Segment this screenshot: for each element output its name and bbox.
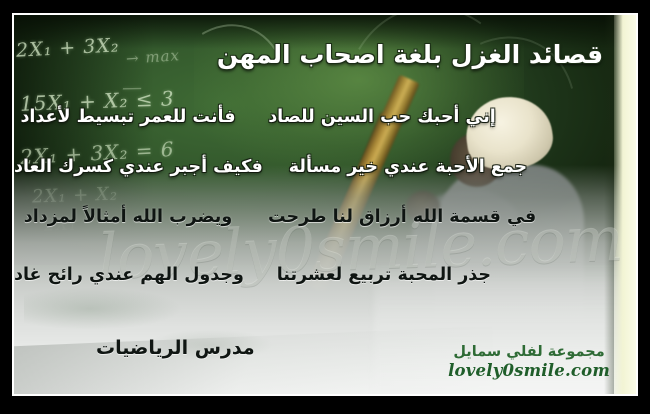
- verse-hemistich-a: جمع الأحبة عندي خير مسألة: [289, 157, 527, 177]
- verse-line: إني أحبك حب السين للصاد فأنت للعمر تبسيط…: [14, 107, 614, 157]
- verse-hemistich-b: ويضرب الله أمثالاً لمزداد: [14, 207, 242, 227]
- poster-image: 2X₁ + 3X₂ → max — 15X₁ + X₂ ≤ 3 2X₁ + 3X…: [0, 0, 650, 414]
- verse-hemistich-b: فكيف أجبر عندي كسرك العاد: [14, 157, 263, 177]
- verse-line: جمع الأحبة عندي خير مسألة فكيف أجبر عندي…: [14, 157, 614, 207]
- verse-hemistich-b: فأنت للعمر تبسيط لأعداد: [14, 107, 242, 127]
- author-signature: مدرس الرياضيات: [96, 337, 255, 359]
- verse-hemistich-a: جذر المحبة تربيع لعشرتنا: [270, 265, 498, 285]
- verse-hemistich-a: إني أحبك حب السين للصاد: [268, 107, 496, 127]
- page-title: قصائد الغزل بلغة اصحاب المهن: [200, 39, 620, 70]
- artwork-canvas: 2X₁ + 3X₂ → max — 15X₁ + X₂ ≤ 3 2X₁ + 3X…: [14, 15, 636, 394]
- verse-line: في قسمة الله أرزاق لنا طرحت ويضرب الله أ…: [14, 207, 614, 257]
- brand-website-url[interactable]: lovely0smile.com: [448, 361, 610, 380]
- verse-hemistich-b: وجدول الهم عندي رائح غاد: [14, 265, 244, 285]
- verse-line: جذر المحبة تربيع لعشرتنا وجدول الهم عندي…: [14, 265, 614, 315]
- image-frame: 2X₁ + 3X₂ → max — 15X₁ + X₂ ≤ 3 2X₁ + 3X…: [12, 13, 638, 396]
- brand-name-arabic: مجموعة لفلي سمايل: [448, 344, 610, 360]
- verse-list: إني أحبك حب السين للصاد فأنت للعمر تبسيط…: [14, 107, 614, 315]
- verse-hemistich-a: في قسمة الله أرزاق لنا طرحت: [268, 207, 536, 227]
- right-cream-strip: [614, 15, 636, 394]
- brand-footer: مجموعة لفلي سمايل lovely0smile.com: [448, 344, 610, 380]
